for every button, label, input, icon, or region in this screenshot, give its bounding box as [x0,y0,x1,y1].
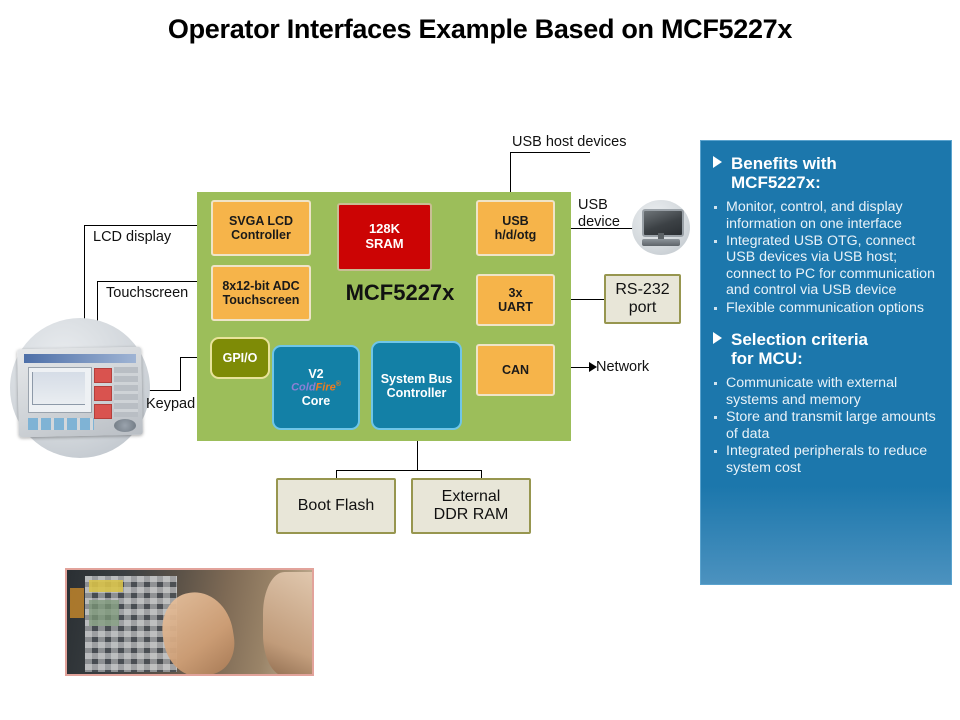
label-usb-device-line1: USB [578,197,620,214]
block-svga-line2: Controller [229,228,293,242]
triangle-bullet-icon [713,332,722,344]
block-sram-line1: 128K [365,222,403,237]
block-v2-line2: Core [291,394,341,408]
block-uart-line2: UART [498,300,533,314]
block-v2-line1: V2 [291,367,341,381]
page-title: Operator Interfaces Example Based on MCF… [0,14,960,45]
box-boot-flash[interactable]: Boot Flash [276,478,396,534]
block-adc-line2: Touchscreen [222,293,299,307]
selection-bullet-item: Integrated peripherals to reduce system … [711,443,941,476]
benefits-bullet-item: Integrated USB OTG, connect USB devices … [711,233,941,299]
coldfire-logo-cold: Cold [291,382,315,394]
connector-keypad-vertical [180,357,181,390]
benefits-bullet-list: Monitor, control, and display informatio… [711,199,941,316]
hmi-red-button [94,386,112,401]
box-rs232-line2: port [629,299,657,317]
operator-panel-illustration [10,318,150,458]
box-rs232-line1: RS-232 [615,281,669,299]
benefits-panel: Benefits with MCF5227x: Monitor, control… [700,140,952,585]
label-keypad: Keypad [146,396,195,412]
box-ddr-line1: External [442,488,501,506]
connector-bus-horizontal [336,470,481,471]
hmi-red-button [94,368,112,383]
panel-heading-benefits-line2: MCF5227x: [731,173,821,192]
box-external-ddr-ram[interactable]: External DDR RAM [411,478,531,534]
registered-mark-icon: ® [336,381,341,388]
label-usb-device-line2: device [578,214,620,231]
block-v2-coldfire-core[interactable]: V2 ColdFire® Core [272,345,360,430]
coldfire-logo: ColdFire® [291,381,341,394]
benefits-bullet-item: Monitor, control, and display informatio… [711,199,941,232]
photo-operator-face [263,572,314,676]
block-usb-hdotg[interactable]: USB h/d/otg [476,200,555,256]
selection-criteria-bullet-list: Communicate with external systems and me… [711,375,941,476]
hand-on-industrial-keypad-photo [65,568,314,676]
panel-heading-benefits-line1: Benefits with [731,154,837,173]
connector-touchscreen-horizontal [97,281,197,282]
selection-bullet-item: Communicate with external systems and me… [711,375,941,408]
block-gpio-label: GPI/O [223,351,258,365]
block-adc-touchscreen[interactable]: 8x12-bit ADC Touchscreen [211,265,311,321]
connector-network-horizontal [571,367,591,368]
monitor-base [642,239,680,246]
block-adc-line1: 8x12-bit ADC [222,279,299,293]
triangle-bullet-icon [713,156,722,168]
selection-bullet-item: Store and transmit large amounts of data [711,409,941,442]
hmi-dial [114,419,136,432]
benefits-bullet-item: Flexible communication options [711,300,941,316]
block-system-bus-controller[interactable]: System Bus Controller [371,341,462,430]
desktop-monitor-icon [632,200,690,255]
block-svga-line1: SVGA LCD [229,214,293,228]
soc-name-label: MCF5227x [330,280,470,306]
box-ddr-line2: DDR RAM [434,506,509,524]
panel-heading-selection-criteria: Selection criteria for MCU: [711,330,941,368]
block-3x-uart[interactable]: 3x UART [476,274,555,326]
label-network: Network [596,359,649,375]
label-usb-host-devices: USB host devices [512,134,626,150]
connector-bus-vertical [417,441,418,471]
block-uart-line1: 3x [498,286,533,300]
label-usb-device: USB device [578,197,620,230]
hmi-function-key-row [28,418,94,430]
block-sbc-line2: Controller [381,386,453,400]
box-rs232-port[interactable]: RS-232 port [604,274,681,324]
connector-rs232-horizontal [571,299,604,300]
photo-amber-display [70,588,84,618]
photo-green-keys [89,600,119,626]
block-svga-lcd-controller[interactable]: SVGA LCD Controller [211,200,311,256]
block-usb-line1: USB [495,214,537,228]
connector-usbhost-vertical [510,152,511,194]
label-lcd-display: LCD display [93,229,171,245]
photo-yellow-keys [89,580,123,592]
connector-lcd-horizontal [84,225,197,226]
hmi-titlebar [24,354,136,363]
block-can-label: CAN [502,363,529,377]
block-128k-sram[interactable]: 128K SRAM [337,203,432,271]
hmi-red-button [94,404,112,419]
connector-usbhost-horizontal [510,152,590,153]
panel-heading-selection-line2: for MCU: [731,349,803,368]
panel-heading-benefits: Benefits with MCF5227x: [711,154,941,192]
block-sbc-line1: System Bus [381,372,453,386]
block-usb-line2: h/d/otg [495,228,537,242]
block-gpio[interactable]: GPI/O [210,337,270,379]
coldfire-logo-fire: Fire [316,382,336,394]
hmi-graph-trace [32,372,85,405]
panel-heading-selection-line1: Selection criteria [731,330,868,349]
box-boot-flash-label: Boot Flash [298,497,374,515]
block-sram-line2: SRAM [365,237,403,252]
block-can[interactable]: CAN [476,344,555,396]
label-touchscreen: Touchscreen [106,285,188,301]
hmi-numeric-keypad [114,367,138,417]
